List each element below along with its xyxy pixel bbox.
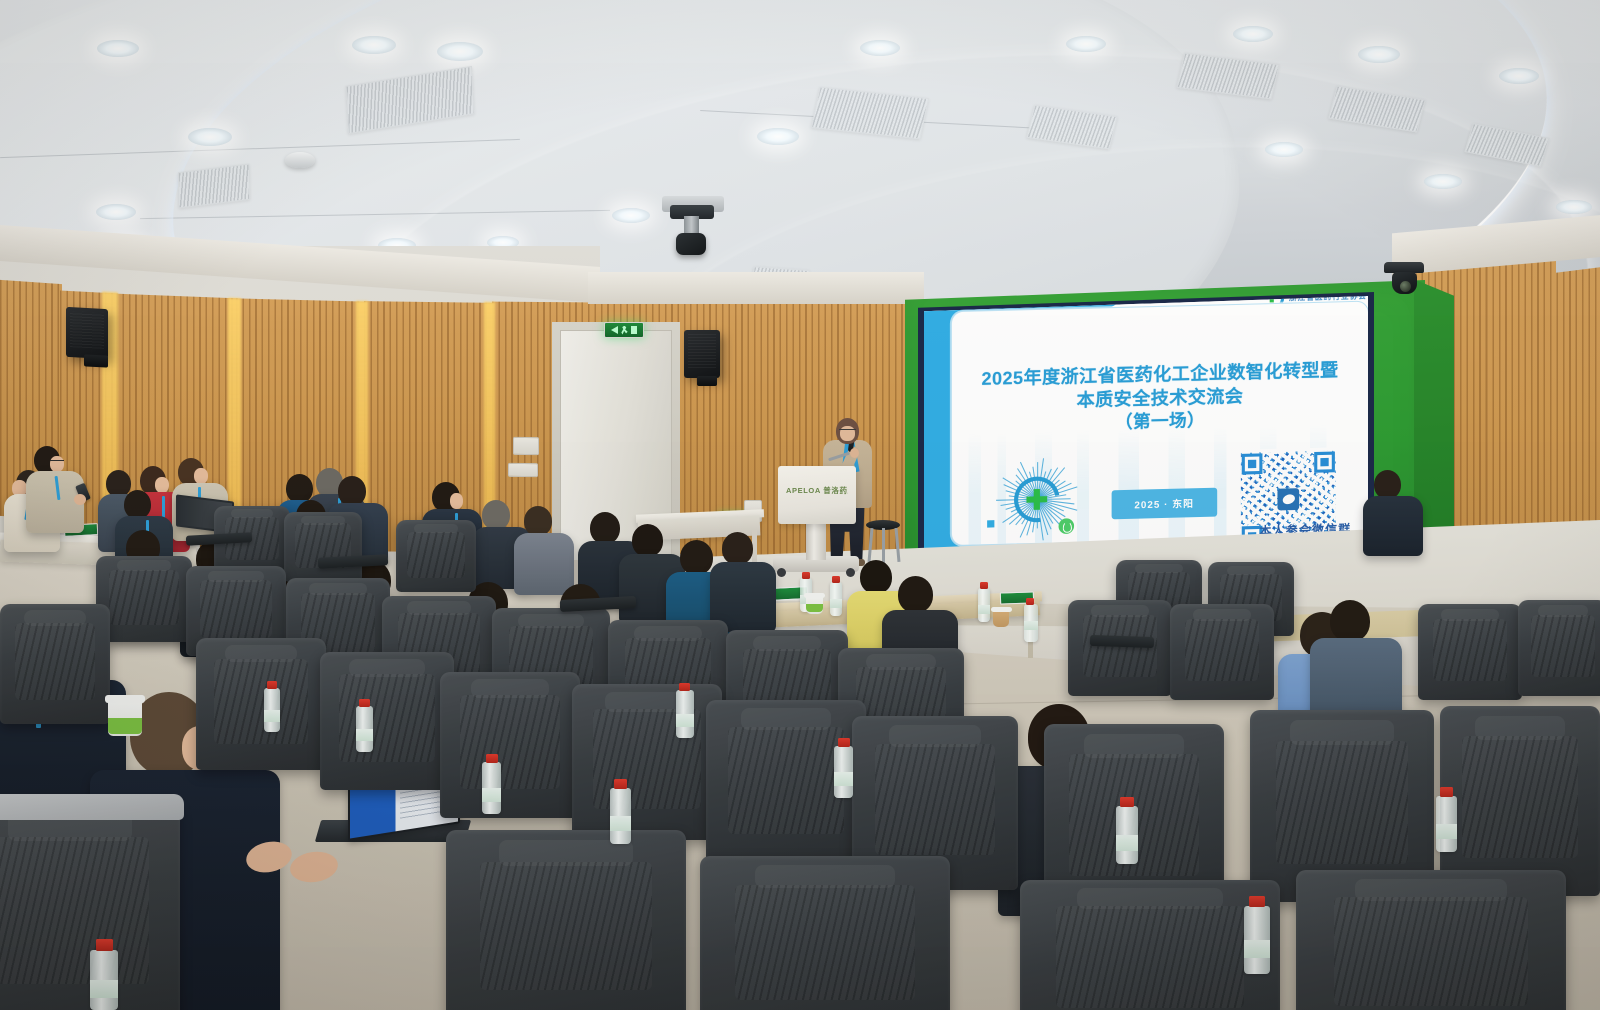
seat[interactable] (440, 672, 580, 818)
seat[interactable] (1418, 604, 1522, 700)
seat[interactable] (284, 512, 362, 582)
water-bottle[interactable] (264, 688, 280, 732)
seat[interactable] (1518, 600, 1600, 696)
water-bottle[interactable] (834, 746, 853, 798)
water-bottle[interactable] (676, 690, 694, 738)
slide: 浙江省医药行业协会 2025年度浙江省医药化工企业数智化转型暨 本质安全技术交流… (924, 296, 1368, 573)
downlight-icon (97, 40, 139, 57)
slide-square-accent (987, 520, 994, 527)
presentation-screen[interactable]: 浙江省医药行业协会 2025年度浙江省医药化工企业数智化转型暨 本质安全技术交流… (924, 296, 1368, 573)
downlight-icon (1066, 36, 1106, 52)
water-bottle[interactable] (90, 950, 118, 1010)
wall-switch-panel[interactable] (513, 437, 539, 455)
water-bottle[interactable] (356, 706, 373, 752)
slide-title: 2025年度浙江省医药化工企业数智化转型暨 本质安全技术交流会 （第一场） (966, 358, 1353, 438)
wall-outlet-panel[interactable] (508, 463, 538, 477)
seat[interactable] (196, 638, 326, 770)
water-bottle[interactable] (978, 588, 990, 622)
medical-cross-icon (1026, 489, 1047, 510)
downlight-icon (1556, 200, 1592, 214)
water-bottle[interactable] (482, 762, 501, 814)
downlight-icon (860, 40, 900, 56)
slide-card: 2025年度浙江省医药化工企业数智化转型暨 本质安全技术交流会 （第一场） 20… (951, 301, 1368, 547)
glasses-icon (839, 429, 856, 433)
seat[interactable] (396, 520, 476, 592)
water-bottle[interactable] (1244, 906, 1270, 974)
downlight-icon (1358, 46, 1400, 63)
speaker-hand (850, 448, 859, 458)
wall-speaker (684, 330, 720, 378)
projector-head (676, 233, 706, 255)
seat[interactable] (1020, 880, 1280, 1010)
seat[interactable] (446, 830, 686, 1010)
wall-speaker-bracket (697, 376, 717, 386)
wall-cornice (588, 272, 924, 304)
seat[interactable] (1170, 604, 1274, 700)
downlight-icon (1233, 26, 1273, 42)
seat[interactable] (1440, 706, 1600, 896)
city-badge: 2025 · 东阳 (1112, 488, 1217, 520)
seat[interactable] (0, 604, 110, 724)
seat[interactable] (700, 856, 950, 1010)
sign-in-qr-graphic (997, 459, 1076, 540)
downlight-icon (1265, 142, 1303, 157)
downlight-icon (437, 42, 483, 61)
downlight-icon (1499, 68, 1539, 84)
qr-finder-icon (1314, 452, 1335, 473)
seat[interactable] (572, 684, 722, 840)
wall-speaker (66, 307, 108, 359)
water-bottle[interactable] (610, 788, 631, 844)
podium-caster (777, 568, 786, 577)
wechat-logo-icon (1277, 488, 1299, 510)
water-bottle[interactable] (1116, 806, 1138, 864)
downlight-icon (96, 204, 136, 220)
water-bottle[interactable] (830, 582, 842, 616)
coffee-cup[interactable] (993, 610, 1009, 627)
seat[interactable] (96, 556, 192, 642)
water-bottle[interactable] (1436, 796, 1457, 852)
paper-cup[interactable] (806, 596, 823, 614)
downlight-icon (757, 128, 799, 145)
qr-finder-icon (1242, 453, 1263, 474)
podium-brand-label: APELOA 普洛药业 (786, 485, 848, 496)
seat[interactable] (1068, 600, 1172, 696)
stool-leg (882, 528, 885, 563)
seat-trim (0, 794, 184, 820)
downlight-icon (612, 208, 650, 223)
conference-hall-photo: 浙江省医药行业协会 2025年度浙江省医药化工企业数智化转型暨 本质安全技术交流… (0, 0, 1600, 1010)
ptz-camera-lens-icon (1400, 281, 1411, 292)
seat[interactable] (1296, 870, 1566, 1010)
seat[interactable] (320, 652, 454, 790)
podium-caster (846, 568, 855, 577)
downlight-icon (188, 128, 232, 146)
paper-cup[interactable] (108, 700, 142, 736)
downlight-icon (352, 36, 396, 54)
water-bottle[interactable] (1024, 604, 1038, 642)
seat-tablet-arm[interactable] (1090, 635, 1154, 648)
emergency-exit-sign (604, 322, 644, 338)
smoke-detector-icon (285, 152, 315, 168)
downlight-icon (1424, 174, 1462, 189)
wall-speaker-bracket (84, 354, 108, 367)
